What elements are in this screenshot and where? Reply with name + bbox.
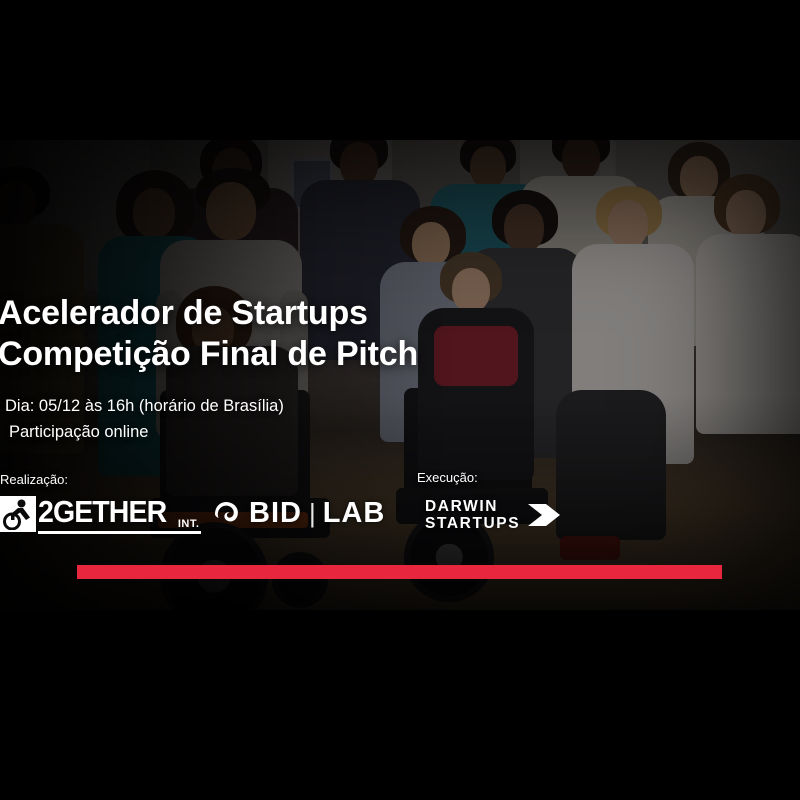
logo-darwin-line-2: STARTUPS [425, 515, 520, 532]
logo-2gether-rule [38, 531, 201, 534]
execucao-label: Execução: [417, 470, 478, 485]
letterbox-top [0, 0, 800, 140]
accent-bar [77, 565, 722, 579]
page-title: Acelerador de Startups Competição Final … [0, 293, 418, 375]
logo-darwin-line-1: DARWIN [425, 498, 520, 515]
event-details: Dia: 05/12 às 16h (horário de Brasília) … [5, 393, 284, 445]
letterbox-bottom [0, 610, 800, 800]
logo-2gether-wordmark: 2GETHER [38, 496, 166, 527]
logo-2gether-international: 2GETHER INT. [0, 496, 177, 536]
chevron-arrow-icon [526, 500, 566, 530]
swirl-icon [212, 498, 242, 528]
logo-lab-text: LAB [323, 498, 386, 528]
logo-bid-text: BID [249, 498, 302, 528]
wheelchair-accessibility-icon [0, 496, 36, 532]
headline-line-1: Acelerador de Startups [0, 293, 418, 334]
logo-bidlab-separator: | [309, 498, 316, 528]
logo-2gether-suffix: INT. [178, 518, 200, 530]
headline-line-2: Competição Final de Pitch [0, 334, 418, 375]
event-poster: Acelerador de Startups Competição Final … [0, 0, 800, 800]
poster-text-layer: Acelerador de Startups Competição Final … [0, 140, 800, 610]
realizacao-label: Realização: [0, 472, 68, 487]
event-date-time: Dia: 05/12 às 16h (horário de Brasília) [5, 393, 284, 419]
event-format: Participação online [5, 419, 284, 445]
logo-bid-lab: BID | LAB [212, 498, 385, 528]
logo-darwin-startups: DARWIN STARTUPS [425, 498, 566, 532]
